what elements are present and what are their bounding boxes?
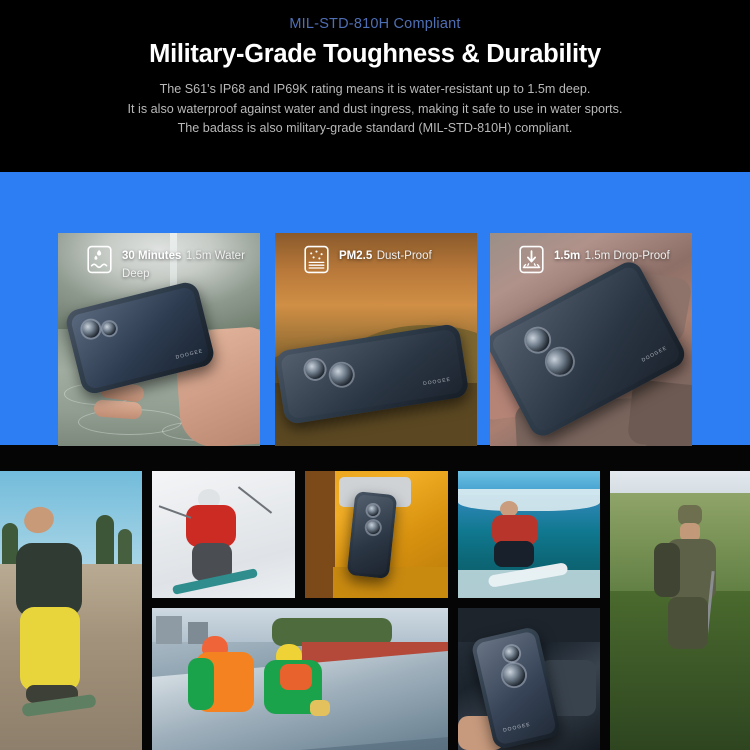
badge-water: 30 Minutes 1.5m Water Deep (58, 233, 260, 282)
hero-paragraph-line-1: The S61's IP68 and IP69K rating means it… (128, 80, 623, 100)
torso (16, 543, 82, 617)
feature-card-drop-proof[interactable]: DOOGEE 1.5m 1.5m Drop-Proof (490, 233, 692, 446)
feature-card-water-resistance[interactable]: DOOGEE 30 Minutes 1.5m Water Deep (58, 233, 260, 446)
gallery-item-solar-panel-workers[interactable] (152, 608, 448, 750)
drop-impact-icon (518, 245, 545, 274)
yellow-pants (20, 607, 80, 691)
machinery-part (305, 471, 335, 598)
rock (627, 379, 692, 446)
feature-card-dust-proof[interactable]: DOOGEE PM2.5 Dust (275, 233, 477, 446)
water-drop-icon (86, 245, 113, 274)
finger (93, 399, 142, 419)
ski-pole (238, 486, 272, 513)
lifestyle-photo-grid: DOOGEE (0, 471, 750, 750)
hero-eyebrow: MIL-STD-810H Compliant (289, 16, 460, 32)
phone-device (347, 491, 398, 579)
dust-particles-icon (303, 245, 330, 274)
gallery-item-hiker[interactable] (610, 471, 750, 750)
wave-foam (458, 489, 600, 511)
promo-page: MIL-STD-810H Compliant Military-Grade To… (0, 0, 750, 750)
hero-paragraph-line-3: The badass is also military-grade standa… (128, 119, 623, 139)
badge-dust-title: PM2.5 (339, 250, 372, 262)
badge-drop-subtitle: 1.5m Drop-Proof (585, 250, 670, 262)
badge-water-text: 30 Minutes 1.5m Water Deep (122, 245, 260, 282)
whitewater (458, 570, 600, 598)
gallery-item-skier[interactable] (152, 471, 295, 598)
gallery-item-surfer[interactable] (458, 471, 600, 598)
board-shorts (494, 541, 534, 567)
feature-card-row: DOOGEE 30 Minutes 1.5m Water Deep (0, 233, 750, 446)
badge-drop-title: 1.5m (554, 250, 580, 262)
red-jacket (186, 505, 236, 547)
badge-water-title: 30 Minutes (122, 250, 181, 262)
building (156, 616, 182, 644)
badge-drop-text: 1.5m 1.5m Drop-Proof (554, 245, 670, 264)
orange-harness (280, 664, 312, 690)
page-title: Military-Grade Toughness & Durability (149, 40, 601, 69)
badge-drop: 1.5m 1.5m Drop-Proof (490, 233, 692, 274)
hero-section: MIL-STD-810H Compliant Military-Grade To… (0, 0, 750, 172)
badge-dust-text: PM2.5 Dust-Proof (339, 245, 432, 264)
green-sleeve (188, 658, 214, 710)
gallery-item-skateboarder[interactable] (0, 471, 142, 750)
gallery-item-phone-in-car-engine[interactable]: DOOGEE (458, 608, 600, 750)
trousers (668, 597, 708, 649)
badge-dust-subtitle: Dust-Proof (377, 250, 432, 262)
cap (678, 505, 702, 525)
gallery-item-phone-on-construction-vehicle[interactable] (305, 471, 448, 598)
hero-paragraph: The S61's IP68 and IP69K rating means it… (128, 80, 623, 139)
hero-paragraph-line-2: It is also waterproof against water and … (128, 100, 623, 120)
badge-dust: PM2.5 Dust-Proof (275, 233, 477, 274)
work-glove (310, 700, 330, 716)
backpack (654, 543, 680, 597)
